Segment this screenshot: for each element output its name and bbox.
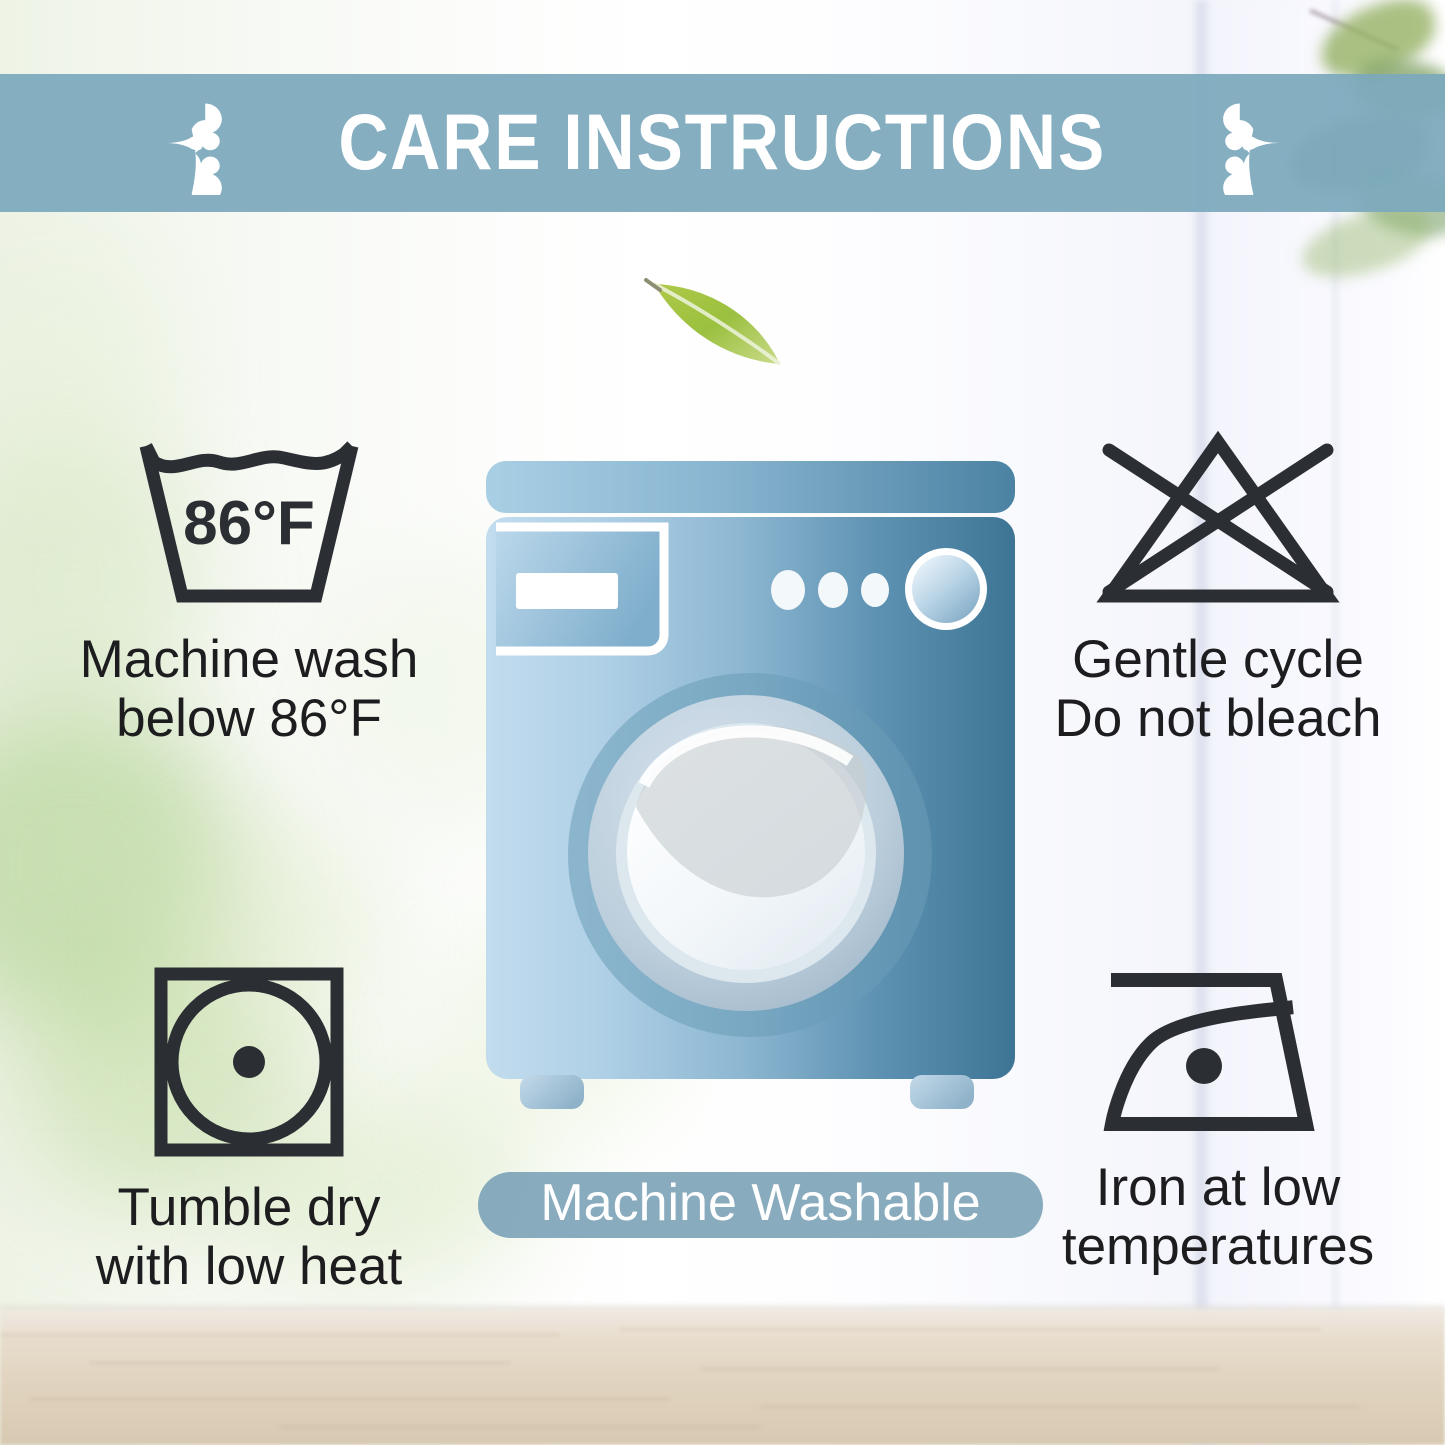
indicator-light <box>818 572 848 608</box>
page-title: CARE INSTRUCTIONS <box>339 102 1107 185</box>
machine-foot <box>520 1075 584 1109</box>
control-dial[interactable] <box>912 555 980 623</box>
care-symbol-iron: Iron at low temperatures <box>1000 962 1436 1277</box>
machine-foot <box>910 1075 974 1109</box>
fleur-de-lis-icon <box>148 91 252 195</box>
iron-low-temperature-icon <box>1000 962 1436 1142</box>
care-symbol-bleach: Gentle cycle Do not bleach <box>1000 424 1436 749</box>
wash-temperature-value: 86°F <box>183 489 315 558</box>
indicator-light <box>771 570 805 610</box>
care-symbol-caption: Tumble dry with low heat <box>14 1178 484 1297</box>
machine-top-lid <box>486 461 1015 513</box>
care-symbol-tumble-dry: Tumble dry with low heat <box>14 962 484 1297</box>
care-symbol-caption: Gentle cycle Do not bleach <box>1000 630 1436 749</box>
header-banner: CARE INSTRUCTIONS <box>0 74 1445 212</box>
machine-washable-badge: Machine Washable <box>478 1172 1043 1238</box>
wood-table-surface <box>0 1310 1445 1445</box>
leaf-icon <box>640 268 800 378</box>
care-symbol-caption: Machine wash below 86°F <box>14 630 484 749</box>
washing-machine-illustration <box>478 455 1023 1125</box>
indicator-light <box>861 573 889 607</box>
tumble-dry-low-icon <box>14 962 484 1162</box>
detergent-drawer-slot <box>516 573 618 609</box>
care-symbol-wash: 86°F Machine wash below 86°F <box>14 424 484 749</box>
fleur-de-lis-icon <box>1193 91 1297 195</box>
wash-tub-icon: 86°F <box>14 424 484 614</box>
care-symbol-caption: Iron at low temperatures <box>1000 1158 1436 1277</box>
do-not-bleach-triangle-icon <box>1000 424 1436 614</box>
machine-washable-badge-label: Machine Washable <box>540 1177 980 1234</box>
